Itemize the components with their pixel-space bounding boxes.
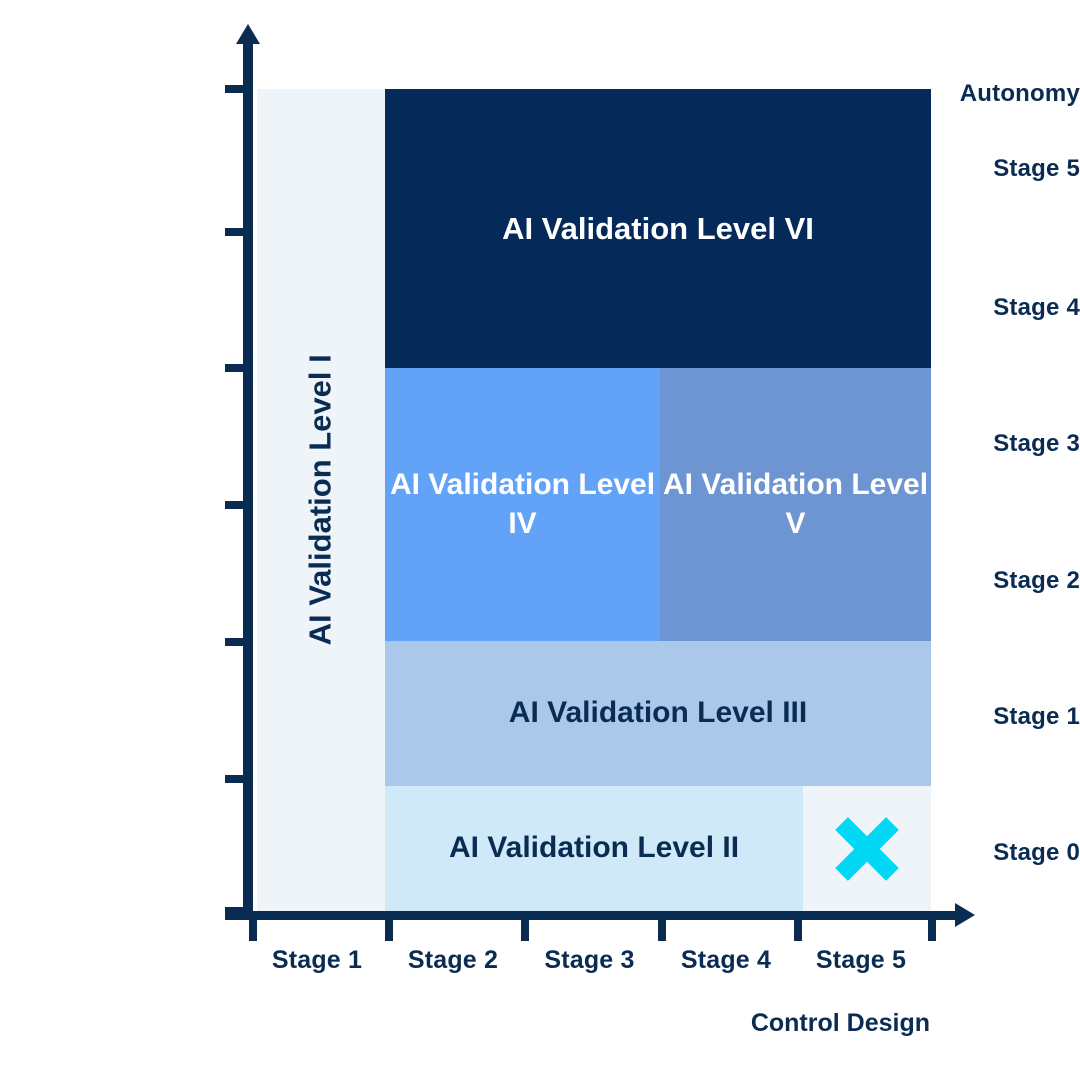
cell-label-level-5: AI Validation Level V [660,466,931,543]
cell-ai-validation-level-3[interactable]: AI Validation Level III [385,641,931,786]
x-axis-tick [928,915,936,941]
x-axis-arrow-icon [955,903,975,927]
y-axis-tick [225,85,249,93]
cell-label-level-2: AI Validation Level II [449,829,739,867]
y-axis-label-autonomy: Autonomy [870,80,1080,108]
y-axis-arrow-icon [236,24,260,44]
x-axis-line [225,911,960,920]
cell-ai-validation-level-2[interactable]: AI Validation Level II [385,786,803,911]
cell-ai-validation-level-6[interactable]: AI Validation Level VI [385,89,931,368]
y-axis-tick [225,638,249,646]
cell-label-level-1: AI Validation Level I [301,354,341,645]
y-axis-tick [225,501,249,509]
y-axis-label-stage-0: Stage 0 [870,839,1080,867]
y-axis-tick [225,907,249,915]
x-axis-label-stage-2: Stage 2 [385,946,521,975]
x-axis-tick [249,915,257,941]
y-axis-tick [225,364,249,372]
x-axis-label-stage-1: Stage 1 [249,946,385,975]
x-axis-tick [521,915,529,941]
chart-canvas: AI Validation Level I AI Validation Leve… [0,0,1080,1080]
y-axis-label-stage-3: Stage 3 [870,430,1080,458]
cell-ai-validation-level-1[interactable]: AI Validation Level I [257,89,385,911]
y-axis-tick [225,228,249,236]
cell-label-level-4: AI Validation Level IV [385,466,660,543]
x-axis-label-stage-3: Stage 3 [521,946,658,975]
cell-ai-validation-level-4[interactable]: AI Validation Level IV [385,368,660,641]
x-axis-label-stage-5: Stage 5 [794,946,928,975]
y-axis-tick [225,775,249,783]
x-axis-tick [658,915,666,941]
y-axis-label-stage-1: Stage 1 [870,703,1080,731]
x-axis-title: Control Design [640,1009,930,1038]
y-axis-label-stage-5: Stage 5 [870,155,1080,183]
x-axis-tick [385,915,393,941]
x-axis-label-stage-4: Stage 4 [658,946,794,975]
x-axis-tick [794,915,802,941]
cell-label-level-3: AI Validation Level III [509,694,807,732]
y-axis-line [243,40,253,920]
y-axis-label-stage-2: Stage 2 [870,567,1080,595]
cell-ai-validation-level-5[interactable]: AI Validation Level V [660,368,931,641]
y-axis-label-stage-4: Stage 4 [870,294,1080,322]
cell-label-level-6: AI Validation Level VI [502,209,814,249]
